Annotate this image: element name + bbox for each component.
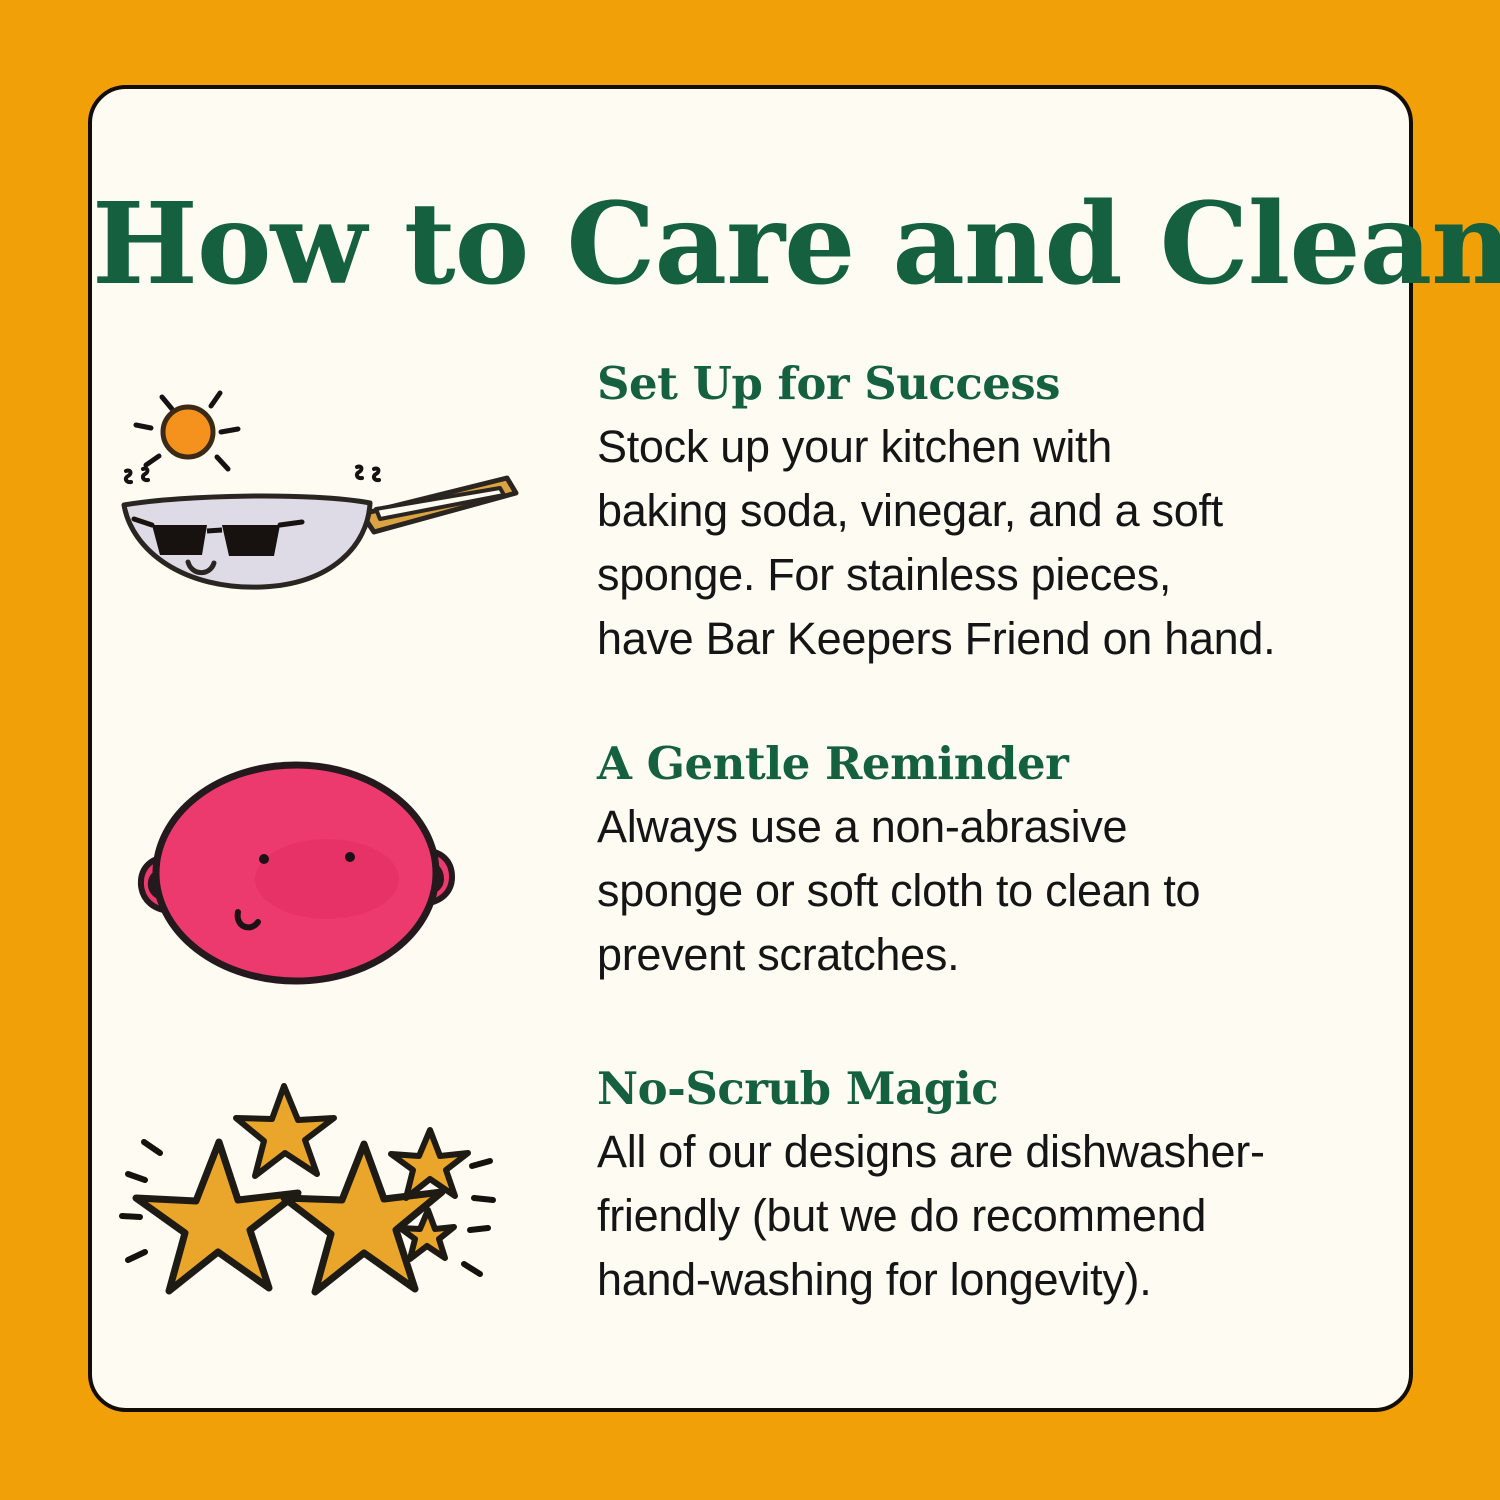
section-text-block: No-Scrub Magic All of our designs are di…: [597, 1064, 1367, 1312]
body-line: Always use a non-abrasive: [597, 795, 1367, 859]
section-heading: A Gentle Reminder: [597, 739, 1367, 789]
body-line: friendly (but we do recommend: [597, 1184, 1367, 1248]
body-line: prevent scratches.: [597, 923, 1367, 987]
sparkle-stars-icon: [112, 1064, 542, 1334]
body-line: sponge or soft cloth to clean to: [597, 859, 1367, 923]
section-text-block: Set Up for Success Stock up your kitchen…: [597, 359, 1367, 671]
pink-pot-with-face-icon: [112, 739, 542, 1009]
body-line: baking soda, vinegar, and a soft: [597, 479, 1367, 543]
section-body: Stock up your kitchen with baking soda, …: [597, 415, 1367, 671]
frying-pan-with-sunglasses-and-sun-icon: [112, 359, 542, 629]
body-line: Stock up your kitchen with: [597, 415, 1367, 479]
section-body: Always use a non-abrasive sponge or soft…: [597, 795, 1367, 987]
body-line: sponge. For stainless pieces,: [597, 543, 1367, 607]
body-line: have Bar Keepers Friend on hand.: [597, 607, 1367, 671]
page-title: How to Care and Clean: [92, 189, 1409, 301]
section-body: All of our designs are dishwasher- frien…: [597, 1120, 1367, 1312]
care-and-clean-card: How to Care and Clean: [88, 85, 1413, 1412]
section-text-block: A Gentle Reminder Always use a non-abras…: [597, 739, 1367, 987]
body-line: hand-washing for longevity).: [597, 1248, 1367, 1312]
section-heading: No-Scrub Magic: [597, 1064, 1367, 1114]
body-line: All of our designs are dishwasher-: [597, 1120, 1367, 1184]
section-heading: Set Up for Success: [597, 359, 1367, 409]
